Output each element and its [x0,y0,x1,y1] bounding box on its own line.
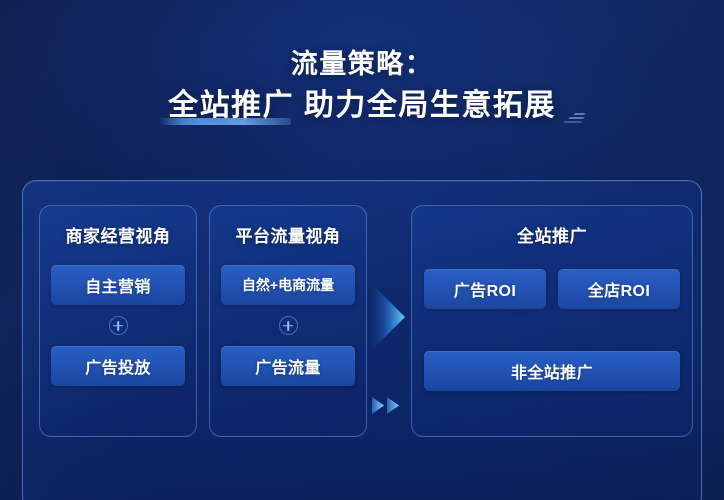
panel-merchant-view-item-2[interactable]: 广告投放 [51,346,185,386]
non-sitewide-promotion-item[interactable]: 非全站推广 [424,351,680,391]
panel-sitewide-promotion[interactable]: 全站推广 广告ROI 全店ROI 非全站推广 [411,205,693,437]
slide-title-block: 流量策略： 全站推广 助力全局生意拓展 [0,46,724,126]
panel-merchant-view-title: 商家经营视角 [66,222,171,247]
slide-background: 流量策略： 全站推广 助力全局生意拓展 商家经营视角 自主营销 广告投放 平台流… [0,0,724,500]
title-line-secondary-wrap: 全站推广 助力全局生意拓展 [168,86,556,126]
roi-row: 广告ROI 全店ROI [424,269,680,309]
panel-merchant-view[interactable]: 商家经营视角 自主营销 广告投放 [39,205,197,437]
panel-sitewide-promotion-title: 全站推广 [517,222,587,247]
double-chevron-right-icon [372,397,401,414]
title-line-secondary: 全站推广 助力全局生意拓展 [168,86,556,126]
title-line-primary: 流量策略： [0,46,724,82]
panel-platform-traffic-view-item-2[interactable]: 广告流量 [221,346,355,386]
panel-platform-traffic-view[interactable]: 平台流量视角 自然+电商流量 广告流量 [209,205,367,437]
arrow-right-icon [369,281,405,353]
panel-platform-traffic-view-title: 平台流量视角 [236,222,341,247]
diagram-card: 商家经营视角 自主营销 广告投放 平台流量视角 自然+电商流量 广告流量 [22,180,702,500]
panel-platform-traffic-view-item-1[interactable]: 自然+电商流量 [221,265,355,305]
flow-arrow-group [367,205,411,437]
roi-item-store[interactable]: 全店ROI [558,269,680,309]
plus-icon [279,316,298,335]
decorative-slash-marks-icon [564,110,590,124]
plus-icon [109,316,128,335]
roi-item-ad[interactable]: 广告ROI [424,269,546,309]
panel-merchant-view-item-1[interactable]: 自主营销 [51,265,185,305]
panels-row: 商家经营视角 自主营销 广告投放 平台流量视角 自然+电商流量 广告流量 [39,205,685,500]
